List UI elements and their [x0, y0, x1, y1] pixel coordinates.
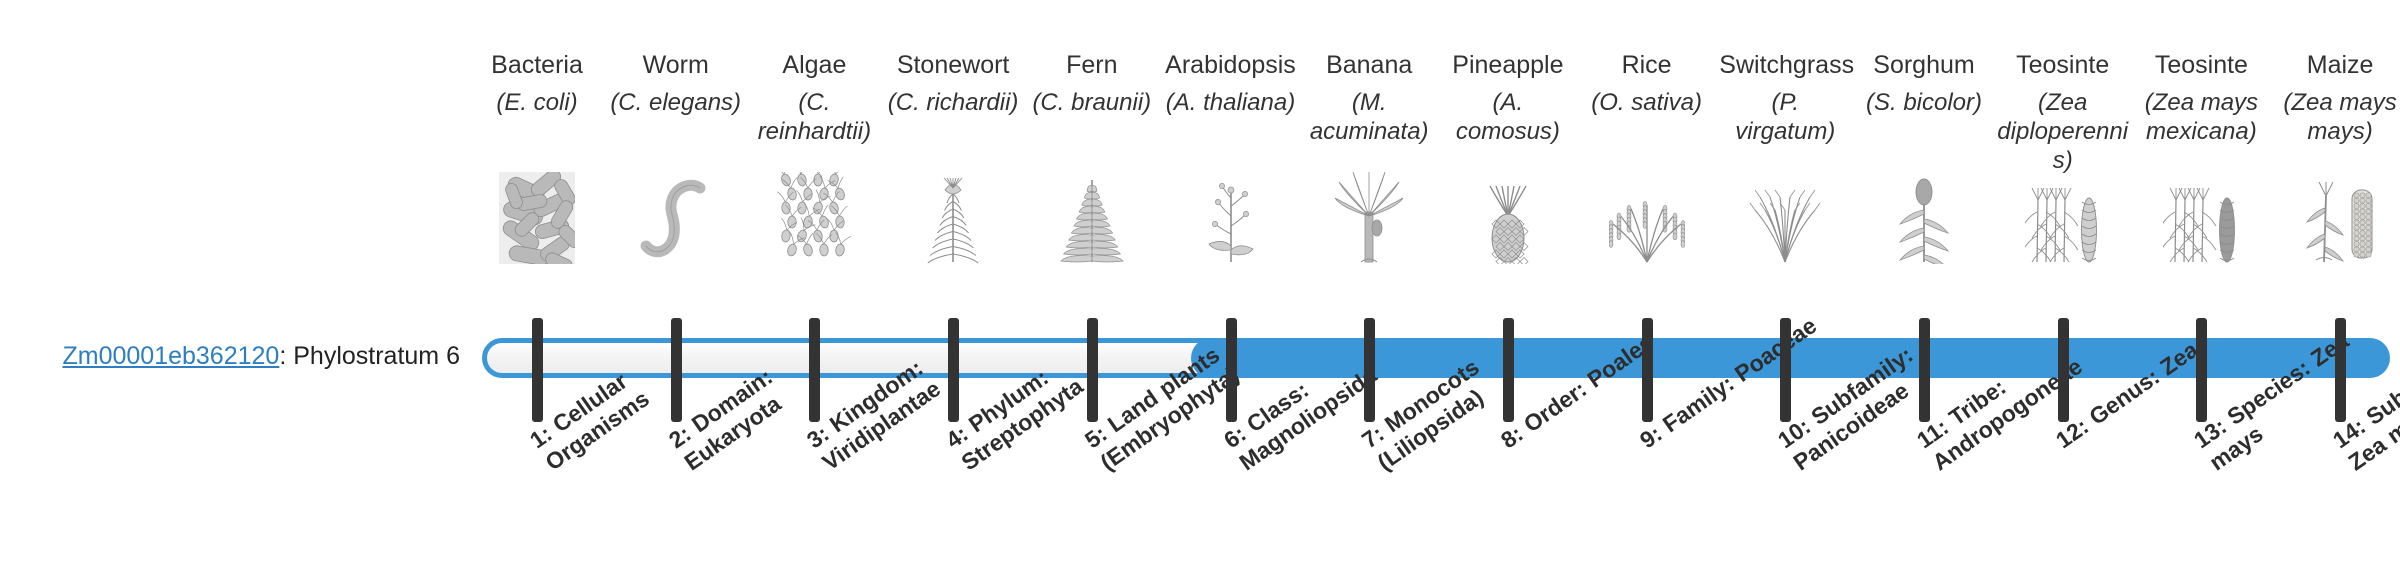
species-scientific-name: (E. coli) — [471, 88, 603, 117]
species-scientific-name: (Zea mays mays) — [2274, 88, 2400, 146]
species-scientific-name: (Zea mays mexicana) — [2135, 88, 2267, 146]
teosinte-diploperennis-illustration — [1998, 172, 2128, 264]
phylostratum-tick — [2335, 318, 2346, 422]
species-column: Stonewort(C. richardii) — [887, 50, 1019, 117]
taxonomy-rank: Family: — [1657, 370, 1738, 437]
species-common-name: Switchgrass — [1719, 50, 1851, 80]
gene-phylostratum-label: Zm00001eb362120: Phylostratum 6 — [40, 341, 460, 371]
species-column: Teosinte(Zea diploperennis) — [1997, 50, 2129, 175]
species-scientific-name: (Zea diploperennis) — [1997, 88, 2129, 175]
species-common-name: Worm — [610, 50, 742, 80]
phylostratum-tick — [1087, 318, 1098, 422]
species-column: Arabidopsis(A. thaliana) — [1165, 50, 1297, 117]
phylostratum-tick — [948, 318, 959, 422]
species-scientific-name: (C. braunii) — [1026, 88, 1158, 117]
taxonomy-number: 8: — [1496, 420, 1528, 453]
species-common-name: Sorghum — [1858, 50, 1990, 80]
species-scientific-name: (M. acuminata) — [1303, 88, 1435, 146]
species-scientific-name: (C. richardii) — [887, 88, 1019, 117]
maize-illustration — [2275, 172, 2400, 264]
phylostratum-tick — [2196, 318, 2207, 422]
species-scientific-name: (P. virgatum) — [1719, 88, 1851, 146]
species-column: Rice(O. sativa) — [1581, 50, 1713, 117]
pineapple-illustration — [1443, 172, 1573, 264]
taxonomy-number: 9: — [1635, 420, 1667, 453]
taxonomy-rank: Order: — [1519, 376, 1591, 438]
phylostratum-tick — [1503, 318, 1514, 422]
phylostratum-tick — [2058, 318, 2069, 422]
species-scientific-name: (C. reinhardtii) — [748, 88, 880, 146]
species-scientific-name: (S. bicolor) — [1858, 88, 1990, 117]
phylostratum-tick — [1919, 318, 1930, 422]
species-column: Maize(Zea mays mays) — [2274, 50, 2400, 146]
species-common-name: Teosinte — [2135, 50, 2267, 80]
sorghum-illustration — [1859, 172, 1989, 264]
species-scientific-name: (C. elegans) — [610, 88, 742, 117]
bacteria-illustration — [472, 172, 602, 264]
species-column: Teosinte(Zea mays mexicana) — [2135, 50, 2267, 146]
phylostratum-tick — [671, 318, 682, 422]
species-common-name: Stonewort — [887, 50, 1019, 80]
phylostratum-tick — [1226, 318, 1237, 422]
species-scientific-name: (A. comosus) — [1442, 88, 1574, 146]
green-algae-illustration — [749, 172, 879, 264]
teosinte-mexicana-illustration — [2136, 172, 2266, 264]
phylostratum-timeline: Zm00001eb362120: Phylostratum 6 Bacteria… — [0, 0, 2400, 580]
species-common-name: Fern — [1026, 50, 1158, 80]
species-column: Worm(C. elegans) — [610, 50, 742, 117]
gene-id-link[interactable]: Zm00001eb362120 — [62, 342, 279, 370]
species-column: Bacteria(E. coli) — [471, 50, 603, 117]
species-common-name: Rice — [1581, 50, 1713, 80]
phylostratum-tick — [809, 318, 820, 422]
species-common-name: Pineapple — [1442, 50, 1574, 80]
gene-label-separator: : — [279, 342, 293, 370]
species-common-name: Teosinte — [1997, 50, 2129, 80]
species-column: Algae(C. reinhardtii) — [748, 50, 880, 146]
species-common-name: Arabidopsis — [1165, 50, 1297, 80]
banana-plant-illustration — [1304, 172, 1434, 264]
species-column: Banana(M. acuminata) — [1303, 50, 1435, 146]
phylostratum-tick — [1780, 318, 1791, 422]
species-scientific-name: (A. thaliana) — [1165, 88, 1297, 117]
stonewort-illustration — [888, 172, 1018, 264]
rice-plant-illustration — [1582, 172, 1712, 264]
species-column: Fern(C. braunii) — [1026, 50, 1158, 117]
phylostratum-tick — [532, 318, 543, 422]
species-column: Pineapple(A. comosus) — [1442, 50, 1574, 146]
species-scientific-name: (O. sativa) — [1581, 88, 1713, 117]
species-common-name: Bacteria — [471, 50, 603, 80]
phylostratum-value-text: Phylostratum 6 — [293, 342, 460, 370]
fern-illustration — [1027, 172, 1157, 264]
species-column: Switchgrass(P. virgatum) — [1719, 50, 1851, 146]
switchgrass-illustration — [1720, 172, 1850, 264]
species-common-name: Banana — [1303, 50, 1435, 80]
arabidopsis-illustration — [1166, 172, 1296, 264]
phylostratum-tick — [1642, 318, 1653, 422]
nematode-worm-illustration — [611, 172, 741, 264]
species-column: Sorghum(S. bicolor) — [1858, 50, 1990, 117]
phylostratum-tick — [1364, 318, 1375, 422]
species-common-name: Algae — [748, 50, 880, 80]
species-common-name: Maize — [2274, 50, 2400, 80]
